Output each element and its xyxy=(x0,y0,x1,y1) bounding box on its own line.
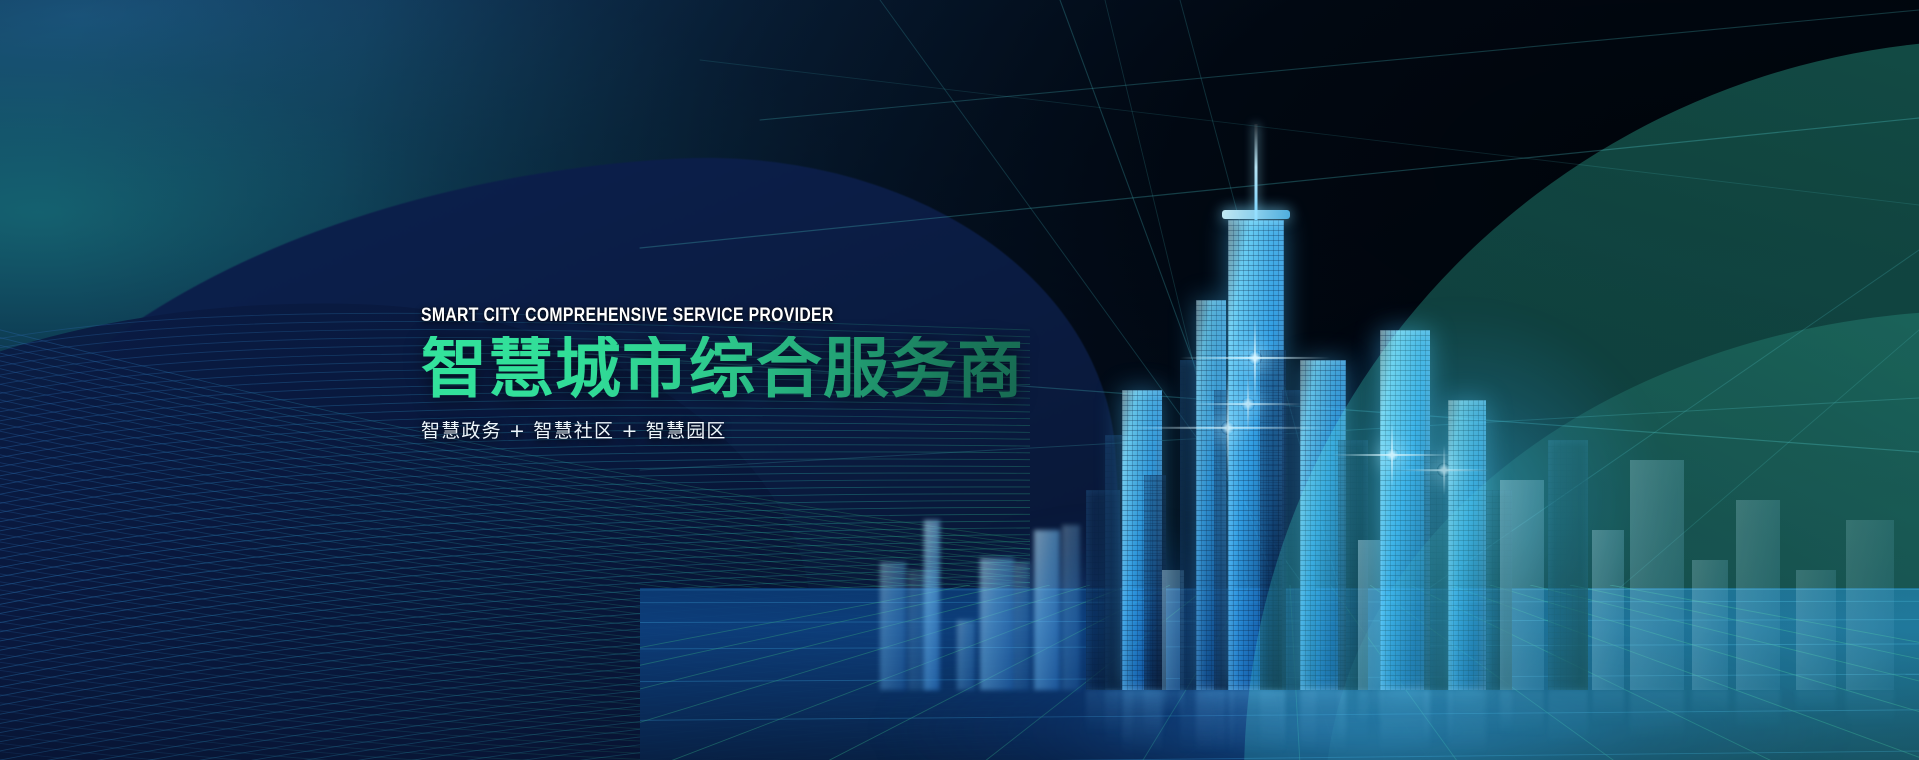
smart-city-hero-banner: SMART CITY COMPREHENSIVE SERVICE PROVIDE… xyxy=(0,0,1919,760)
vignette-overlay xyxy=(0,0,1919,760)
